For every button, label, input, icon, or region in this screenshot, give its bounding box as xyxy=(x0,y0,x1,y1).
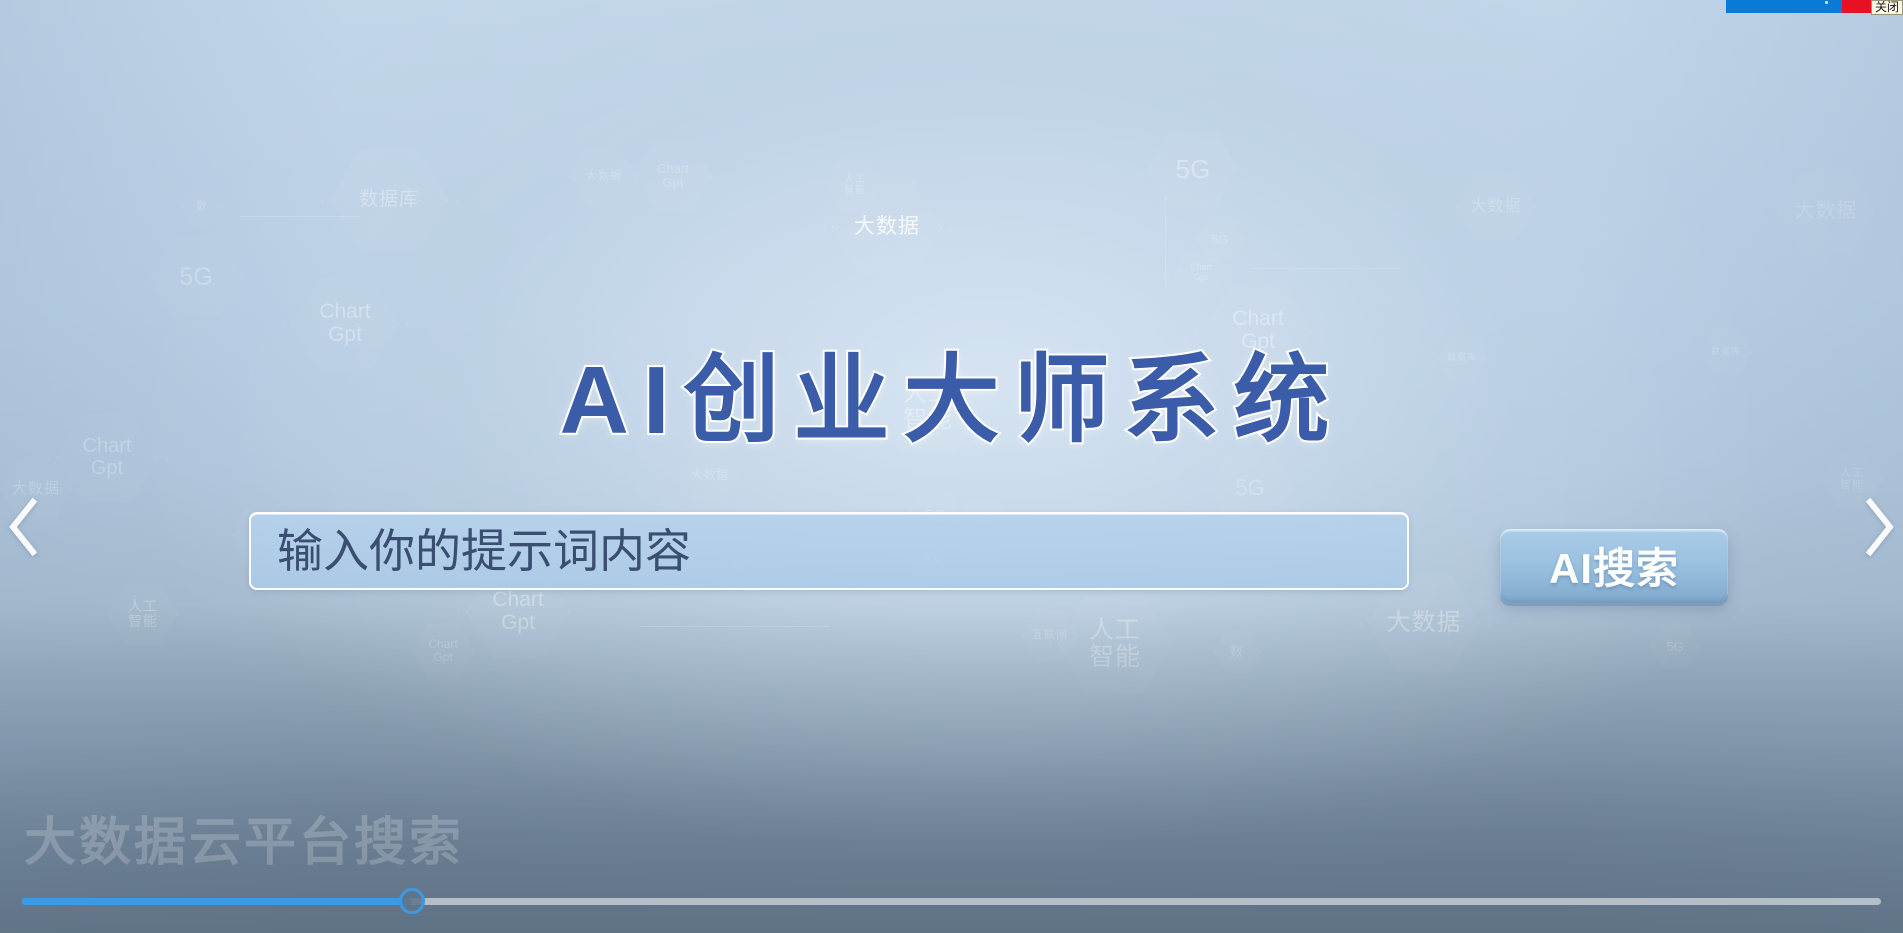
circuit-trace xyxy=(240,216,360,217)
taskbar-blue-bar xyxy=(1726,0,1842,13)
slider-track[interactable] xyxy=(22,898,1881,905)
ai-search-button[interactable]: AI搜索 xyxy=(1500,529,1728,602)
circuit-trace xyxy=(640,626,830,627)
taskbar-dot-icon xyxy=(1825,1,1828,4)
carousel-prev-icon[interactable] xyxy=(2,492,48,562)
close-button[interactable] xyxy=(1842,0,1871,13)
circuit-trace xyxy=(1165,196,1166,286)
progress-slider[interactable] xyxy=(22,888,1881,914)
slider-handle[interactable] xyxy=(399,888,425,914)
search-row: AI搜索 xyxy=(0,512,1903,592)
slider-fill xyxy=(22,898,412,905)
page-title: AI创业大师系统 xyxy=(0,322,1903,461)
circuit-trace xyxy=(1250,268,1400,269)
search-input[interactable] xyxy=(251,514,1407,588)
close-tooltip: 关闭 xyxy=(1871,0,1903,15)
search-input-container[interactable] xyxy=(249,512,1409,590)
carousel-next-icon[interactable] xyxy=(1855,492,1901,562)
app-root: 数据库数5G大数据ChartGpt人工智能大数据5G大数据5GChartGptC… xyxy=(0,0,1903,933)
background-vignette xyxy=(0,0,1903,933)
top-right-window-controls: 关闭 xyxy=(1726,0,1903,16)
